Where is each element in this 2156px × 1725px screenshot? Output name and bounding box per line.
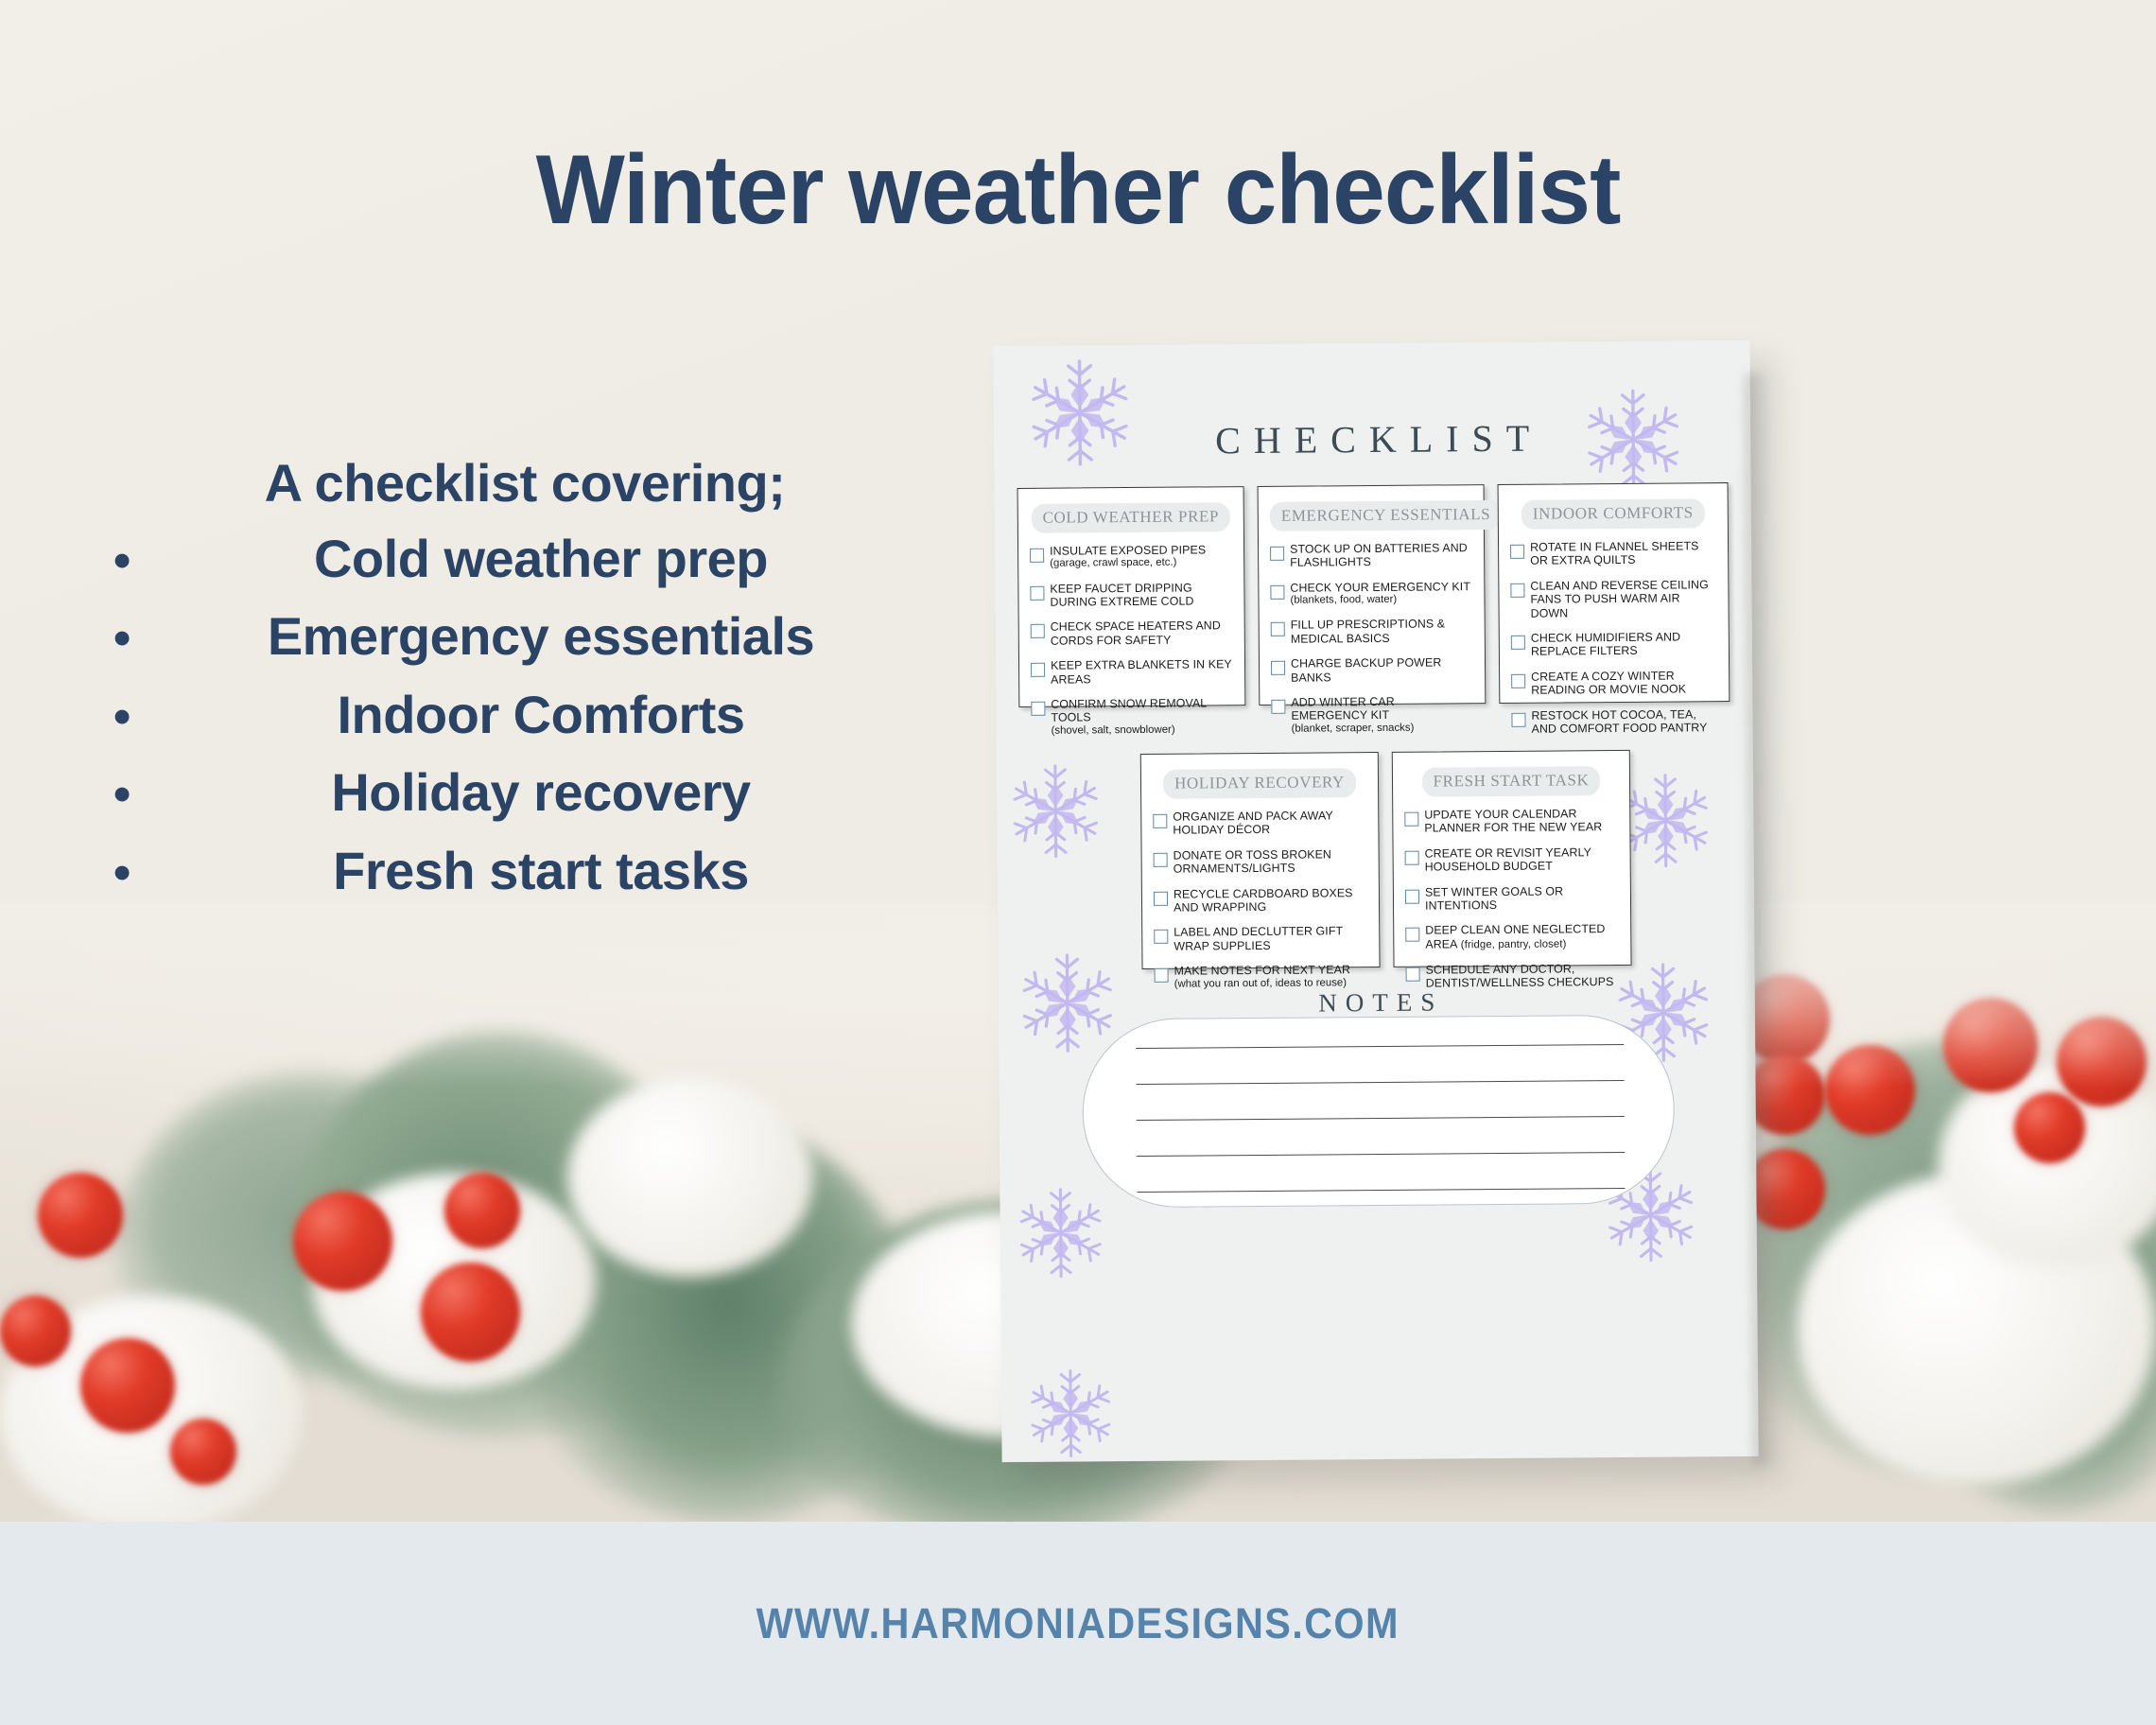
notes-line [1137,1080,1625,1085]
card-title: HOLIDAY RECOVERY [1163,768,1356,799]
checkbox[interactable] [1511,712,1525,726]
list-item: • Fresh start tasks [113,843,936,899]
list-item[interactable]: CHARGE BACKUP POWER BANKS [1271,655,1473,684]
checkbox[interactable] [1404,812,1418,827]
checklist-card-indoor-comforts: INDOOR COMFORTS ROTATE IN FLANNEL SHEETS… [1498,482,1730,704]
feature-label: Fresh start tasks [146,843,936,899]
item-label: CLEAN AND REVERSE CEILING FANS TO PUSH W… [1530,578,1716,620]
list-item[interactable]: RECYCLE CARDBOARD BOXES AND WRAPPING [1154,886,1367,915]
photo-berry [80,1338,175,1433]
card-title: EMERGENCY ESSENTIALS [1270,500,1503,531]
item-label: CHECK HUMIDIFIERS AND REPLACE FILTERS [1531,630,1717,658]
checkbox[interactable] [1511,636,1525,650]
item-label: LABEL AND DECLUTTER GIFT WRAP SUPPLIES [1174,924,1367,952]
list-item[interactable]: FILL UP PRESCRIPTIONS & MEDICAL BASICS [1271,618,1473,646]
notes-heading: NOTES [999,985,1755,1020]
list-item[interactable]: DEEP CLEAN ONE NEGLECTED AREA (fridge, p… [1405,922,1619,951]
photo-berry [444,1173,520,1248]
bullet-icon: • [113,692,146,741]
checkbox[interactable] [1270,585,1284,600]
list-item: • Emergency essentials [113,608,936,665]
list-item[interactable]: CREATE OR REVISIT YEARLY HOUSEHOLD BUDGE… [1405,845,1619,875]
item-label: CHECK SPACE HEATERS AND CORDS FOR SAFETY [1051,619,1233,648]
feature-list-lead: A checklist covering; [113,452,936,514]
list-item[interactable]: RESTOCK HOT COCOA, TEA, AND COMFORT FOOD… [1511,707,1717,736]
list-item[interactable]: KEEP FAUCET DRIPPING DURING EXTREME COLD [1030,581,1232,609]
card-title: COLD WEATHER PREP [1031,502,1230,533]
website-url[interactable]: WWW.HARMONIADESIGNS.COM [756,1599,1400,1648]
card-title-wrap: COLD WEATHER PREP [1030,502,1232,543]
item-label: CREATE A COZY WINTER READING OR MOVIE NO… [1531,669,1717,697]
card-title-wrap: FRESH START TASK [1404,766,1618,807]
item-label: CHARGE BACKUP POWER BANKS [1291,655,1473,684]
item-label: RECYCLE CARDBOARD BOXES AND WRAPPING [1174,886,1367,915]
list-item[interactable]: CHECK YOUR EMERGENCY KIT(blankets, food,… [1270,580,1472,607]
card-title: INDOOR COMFORTS [1521,498,1705,530]
checkbox[interactable] [1271,661,1285,675]
list-item[interactable]: CREATE A COZY WINTER READING OR MOVIE NO… [1511,669,1717,697]
checklist-items: ORGANIZE AND PACK AWAY HOLIDAY DÉCOR DON… [1153,809,1367,991]
checkbox[interactable] [1030,549,1044,563]
list-item[interactable]: STOCK UP ON BATTERIES AND FLASHLIGHTS [1270,541,1472,569]
checkbox[interactable] [1153,814,1167,828]
checkbox[interactable] [1031,624,1045,638]
card-title: FRESH START TASK [1421,766,1600,796]
item-label: ROTATE IN FLANNEL SHEETS OR EXTRA QUILTS [1530,539,1716,567]
snowflake-icon [1616,771,1715,870]
checkbox[interactable] [1031,702,1045,716]
item-label: FILL UP PRESCRIPTIONS & MEDICAL BASICS [1291,618,1473,646]
list-item[interactable]: LABEL AND DECLUTTER GIFT WRAP SUPPLIES [1154,924,1367,953]
bullet-icon: • [113,848,146,897]
checkbox[interactable] [1155,968,1169,983]
checkbox[interactable] [1154,930,1168,944]
item-label: KEEP EXTRA BLANKETS IN KEY AREAS [1051,657,1233,686]
checkbox[interactable] [1405,889,1419,903]
checkbox[interactable] [1511,673,1525,688]
photo-berry [38,1173,123,1258]
page-title: Winter weather checklist [43,134,2113,247]
checkbox[interactable] [1271,622,1285,636]
checkbox[interactable] [1030,585,1044,600]
checklist-printable-page: CHECKLIST COLD WEATHER PREP INSULATE EXP… [993,340,1758,1462]
feature-list: • Cold weather prep • Emergency essentia… [113,531,936,899]
checkbox[interactable] [1510,545,1524,559]
item-label: ORGANIZE AND PACK AWAY HOLIDAY DÉCOR [1173,809,1366,837]
feature-label: Cold weather prep [146,531,936,587]
footer: WWW.HARMONIADESIGNS.COM [0,1522,2156,1725]
list-item[interactable]: UPDATE YOUR CALENDAR PLANNER FOR THE NEW… [1404,807,1618,836]
notes-line [1137,1188,1625,1193]
snowflake-icon [1013,1185,1108,1281]
photo-berry [170,1419,236,1485]
item-label: INSULATE EXPOSED PIPES(garage, crawl spa… [1050,543,1232,570]
item-label: MAKE NOTES FOR NEXT YEAR(what you ran ou… [1174,963,1368,990]
checkbox[interactable] [1405,850,1419,864]
item-label: STOCK UP ON BATTERIES AND FLASHLIGHTS [1290,541,1472,569]
checklist-items: UPDATE YOUR CALENDAR PLANNER FOR THE NEW… [1404,807,1620,991]
list-item[interactable]: CONFIRM SNOW REMOVAL TOOLS(shovel, salt,… [1031,696,1233,738]
photo-berry [2014,1092,2085,1163]
feature-label: Holiday recovery [146,764,936,821]
list-item[interactable]: CHECK HUMIDIFIERS AND REPLACE FILTERS [1511,630,1717,658]
card-title-wrap: INDOOR COMFORTS [1510,498,1716,539]
checklist-heading: CHECKLIST [994,414,1750,464]
list-item[interactable]: ROTATE IN FLANNEL SHEETS OR EXTRA QUILTS [1510,539,1716,567]
checkbox[interactable] [1154,853,1168,867]
snowflake-icon [1006,761,1105,861]
list-item[interactable]: CHECK SPACE HEATERS AND CORDS FOR SAFETY [1031,619,1233,648]
checklist-items: INSULATE EXPOSED PIPES(garage, crawl spa… [1030,543,1234,738]
checklist-card-holiday-recovery: HOLIDAY RECOVERY ORGANIZE AND PACK AWAY … [1140,752,1381,969]
checklist-card-cold-weather-prep: COLD WEATHER PREP INSULATE EXPOSED PIPES… [1017,486,1246,707]
list-item: • Holiday recovery [113,764,936,821]
list-item[interactable]: KEEP EXTRA BLANKETS IN KEY AREAS [1031,657,1233,686]
photo-berry [293,1192,392,1291]
list-item[interactable]: ORGANIZE AND PACK AWAY HOLIDAY DÉCOR [1153,809,1366,838]
poster-canvas: Winter weather checklist A checklist cov… [0,0,2156,1725]
notes-box[interactable] [1082,1015,1676,1209]
list-item[interactable]: CLEAN AND REVERSE CEILING FANS TO PUSH W… [1510,578,1716,620]
checklist-items: ROTATE IN FLANNEL SHEETS OR EXTRA QUILTS… [1510,539,1718,736]
list-item[interactable]: SET WINTER GOALS OR INTENTIONS [1405,884,1619,914]
checkbox[interactable] [1405,928,1419,942]
item-label: DEEP CLEAN ONE NEGLECTED AREA (fridge, p… [1425,922,1619,951]
feature-list-block: A checklist covering; • Cold weather pre… [113,452,936,920]
snowflake-icon [1024,1367,1118,1460]
item-label: DONATE OR TOSS BROKEN ORNAMENTS/LIGHTS [1174,847,1367,876]
photo-berry [421,1263,520,1362]
list-item[interactable]: INSULATE EXPOSED PIPES(garage, crawl spa… [1030,543,1232,570]
checkbox[interactable] [1406,967,1420,982]
item-label: CREATE OR REVISIT YEARLY HOUSEHOLD BUDGE… [1425,845,1619,874]
list-item: • Cold weather prep [113,531,936,587]
list-item[interactable]: ADD WINTER CAR EMERGENCY KIT(blanket, sc… [1271,694,1473,736]
list-item[interactable]: MAKE NOTES FOR NEXT YEAR(what you ran ou… [1155,963,1368,990]
item-label: RESTOCK HOT COCOA, TEA, AND COMFORT FOOD… [1531,707,1717,736]
checkbox[interactable] [1270,547,1284,561]
item-label: KEEP FAUCET DRIPPING DURING EXTREME COLD [1050,581,1232,609]
checkbox[interactable] [1154,891,1168,905]
card-title-wrap: EMERGENCY ESSENTIALS [1270,500,1472,541]
card-title-wrap: HOLIDAY RECOVERY [1153,768,1366,809]
checklist-card-emergency-essentials: EMERGENCY ESSENTIALS STOCK UP ON BATTERI… [1258,484,1487,706]
checkbox[interactable] [1271,700,1285,714]
item-label: ADD WINTER CAR EMERGENCY KIT(blanket, sc… [1291,694,1473,736]
item-label: SET WINTER GOALS OR INTENTIONS [1425,884,1619,913]
checklist-items: STOCK UP ON BATTERIES AND FLASHLIGHTS CH… [1270,541,1474,736]
checkbox[interactable] [1510,584,1524,598]
item-label: CONFIRM SNOW REMOVAL TOOLS(shovel, salt,… [1051,696,1233,738]
notes-line [1136,1044,1624,1049]
bullet-icon: • [113,536,146,585]
list-item: • Indoor Comforts [113,687,936,743]
photo-snow [567,1078,813,1277]
photo-berry [0,1296,71,1367]
photo-berry [1745,1149,1825,1229]
item-label: CHECK YOUR EMERGENCY KIT(blankets, food,… [1290,580,1472,607]
list-item[interactable]: DONATE OR TOSS BROKEN ORNAMENTS/LIGHTS [1154,847,1367,877]
bullet-icon: • [113,614,146,663]
feature-label: Emergency essentials [146,608,936,665]
item-label: UPDATE YOUR CALENDAR PLANNER FOR THE NEW… [1424,807,1618,835]
checkbox[interactable] [1031,663,1045,677]
notes-line [1137,1116,1625,1121]
checklist-card-fresh-start-task: FRESH START TASK UPDATE YOUR CALENDAR PL… [1392,750,1632,967]
bullet-icon: • [113,770,146,819]
feature-label: Indoor Comforts [146,687,936,743]
notes-line [1137,1152,1625,1157]
